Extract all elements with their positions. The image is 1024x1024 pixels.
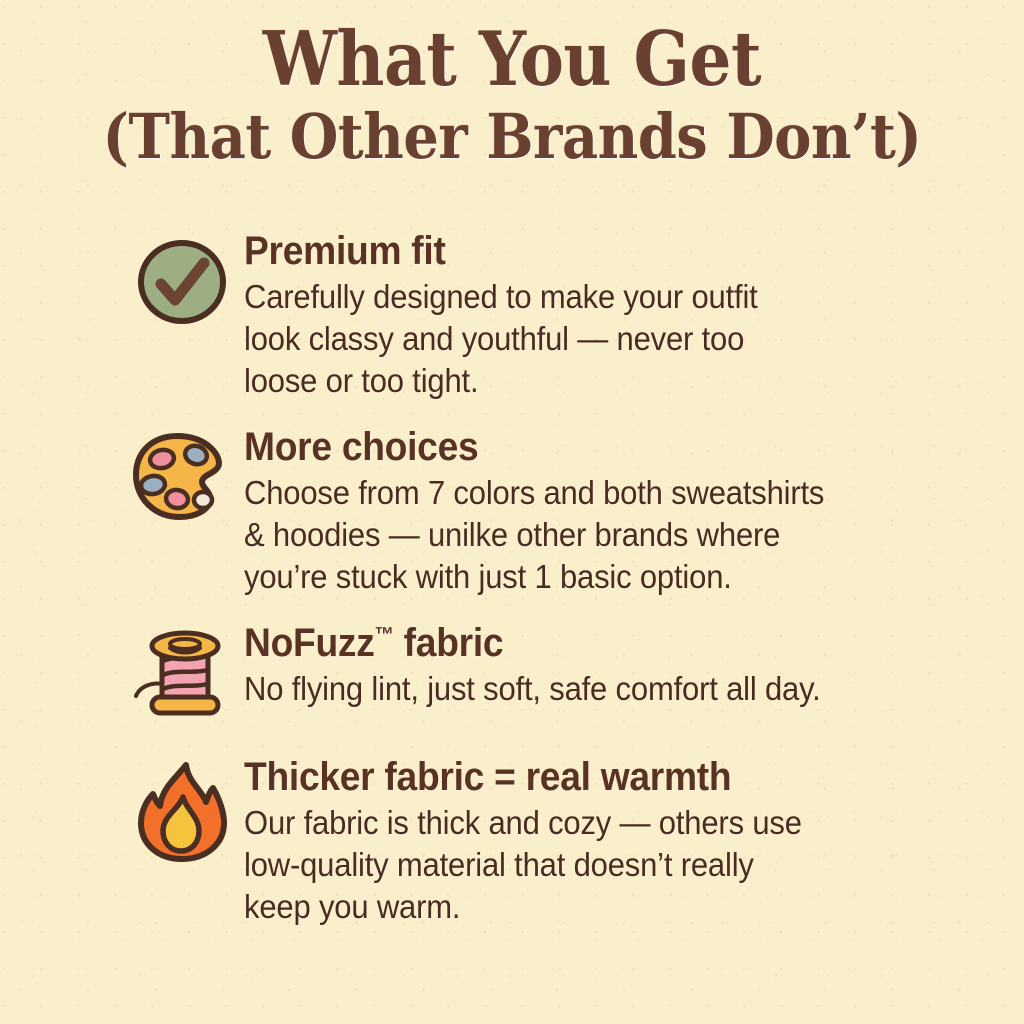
feature-text: NoFuzz™ fabric No flying lint, just soft…: [238, 620, 986, 710]
feature-icon-slot: [126, 424, 238, 532]
feature-title: Thicker fabric = real warmth: [244, 754, 934, 800]
feature-description-line: No flying lint, just soft, safe comfort …: [244, 668, 941, 710]
thread-spool-icon: [130, 626, 234, 726]
feature-description-line: keep you warm.: [244, 886, 941, 928]
feature-text: Thicker fabric = real warmth Our fabric …: [238, 754, 986, 928]
feature-icon-slot: [126, 620, 238, 728]
page-title-line-2: (That Other Brands Don’t): [51, 102, 973, 172]
feature-title-prefix: NoFuzz: [244, 621, 375, 665]
flame-icon: [136, 760, 228, 864]
check-circle-icon: [134, 234, 230, 330]
feature-title: NoFuzz™ fabric: [244, 620, 934, 666]
feature-icon-slot: [126, 228, 238, 336]
trademark-icon: ™: [375, 624, 394, 647]
feature-item: More choices Choose from 7 colors and bo…: [126, 424, 986, 598]
feature-description: Choose from 7 colors and both sweatshirt…: [244, 472, 941, 598]
feature-text: Premium fit Carefully designed to make y…: [238, 228, 986, 402]
feature-description-line: Carefully designed to make your outfit: [244, 276, 941, 318]
poster-canvas: What You Get (That Other Brands Don’t) P…: [0, 0, 1024, 1024]
feature-description-line: look classy and youthful — never too: [244, 318, 941, 360]
page-title-line-1: What You Get: [61, 18, 962, 100]
feature-title: More choices: [244, 424, 934, 470]
feature-item: Thicker fabric = real warmth Our fabric …: [126, 754, 986, 928]
page-title: What You Get (That Other Brands Don’t): [0, 18, 1024, 172]
paint-palette-icon: [130, 430, 234, 526]
feature-title-suffix: fabric: [394, 621, 504, 665]
feature-icon-slot: [126, 754, 238, 862]
feature-description-line: & hoodies — unilke other brands where: [244, 514, 941, 556]
feature-description-line: loose or too tight.: [244, 360, 941, 402]
feature-title: Premium fit: [244, 228, 934, 274]
feature-list: Premium fit Carefully designed to make y…: [126, 228, 986, 940]
feature-description-line: Choose from 7 colors and both sweatshirt…: [244, 472, 941, 514]
feature-description-line: low-quality material that doesn’t really: [244, 844, 941, 886]
feature-item: Premium fit Carefully designed to make y…: [126, 228, 986, 402]
feature-description-line: Our fabric is thick and cozy — others us…: [244, 802, 941, 844]
feature-description: Carefully designed to make your outfit l…: [244, 276, 941, 402]
feature-item: NoFuzz™ fabric No flying lint, just soft…: [126, 620, 986, 728]
feature-text: More choices Choose from 7 colors and bo…: [238, 424, 986, 598]
feature-description-line: you’re stuck with just 1 basic option.: [244, 556, 941, 598]
feature-description: No flying lint, just soft, safe comfort …: [244, 668, 941, 710]
feature-description: Our fabric is thick and cozy — others us…: [244, 802, 941, 928]
